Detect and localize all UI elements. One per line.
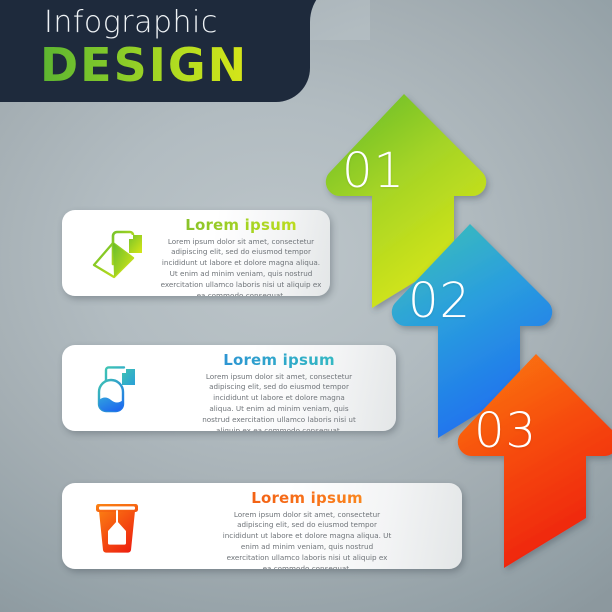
header-band-notch (310, 0, 370, 40)
paper-cup-tea-bag-icon (86, 495, 148, 557)
page-title-line2: DESIGN (40, 42, 248, 88)
step-body-03: Lorem ipsum dolor sit amet, consectetur … (222, 510, 392, 570)
step-card-text-02: Lorem ipsum Lorem ipsum dolor sit amet, … (202, 352, 356, 431)
page-title-line1: Infographic (40, 8, 248, 38)
header-title-group: Infographic DESIGN (40, 8, 248, 88)
step-body-01: Lorem ipsum dolor sit amet, consectetur … (158, 237, 324, 297)
step-card-03[interactable]: Lorem ipsum Lorem ipsum dolor sit amet, … (62, 483, 462, 569)
step-body-02: Lorem ipsum dolor sit amet, consectetur … (202, 372, 356, 432)
step-arrow-03[interactable] (438, 352, 612, 568)
tea-bag-pyramid-icon (86, 222, 148, 284)
step-heading-03: Lorem ipsum (222, 490, 392, 507)
step-card-01[interactable]: Lorem ipsum Lorem ipsum dolor sit amet, … (62, 210, 330, 296)
step-card-text-03: Lorem ipsum Lorem ipsum dolor sit amet, … (222, 490, 392, 569)
step-card-02[interactable]: Lorem ipsum Lorem ipsum dolor sit amet, … (62, 345, 396, 431)
tea-cup-with-bag-icon (86, 357, 148, 419)
step-heading-01: Lorem ipsum (158, 217, 324, 234)
step-card-text-01: Lorem ipsum Lorem ipsum dolor sit amet, … (158, 217, 324, 296)
infographic-canvas: 01 02 (0, 0, 612, 612)
step-heading-02: Lorem ipsum (202, 352, 356, 369)
